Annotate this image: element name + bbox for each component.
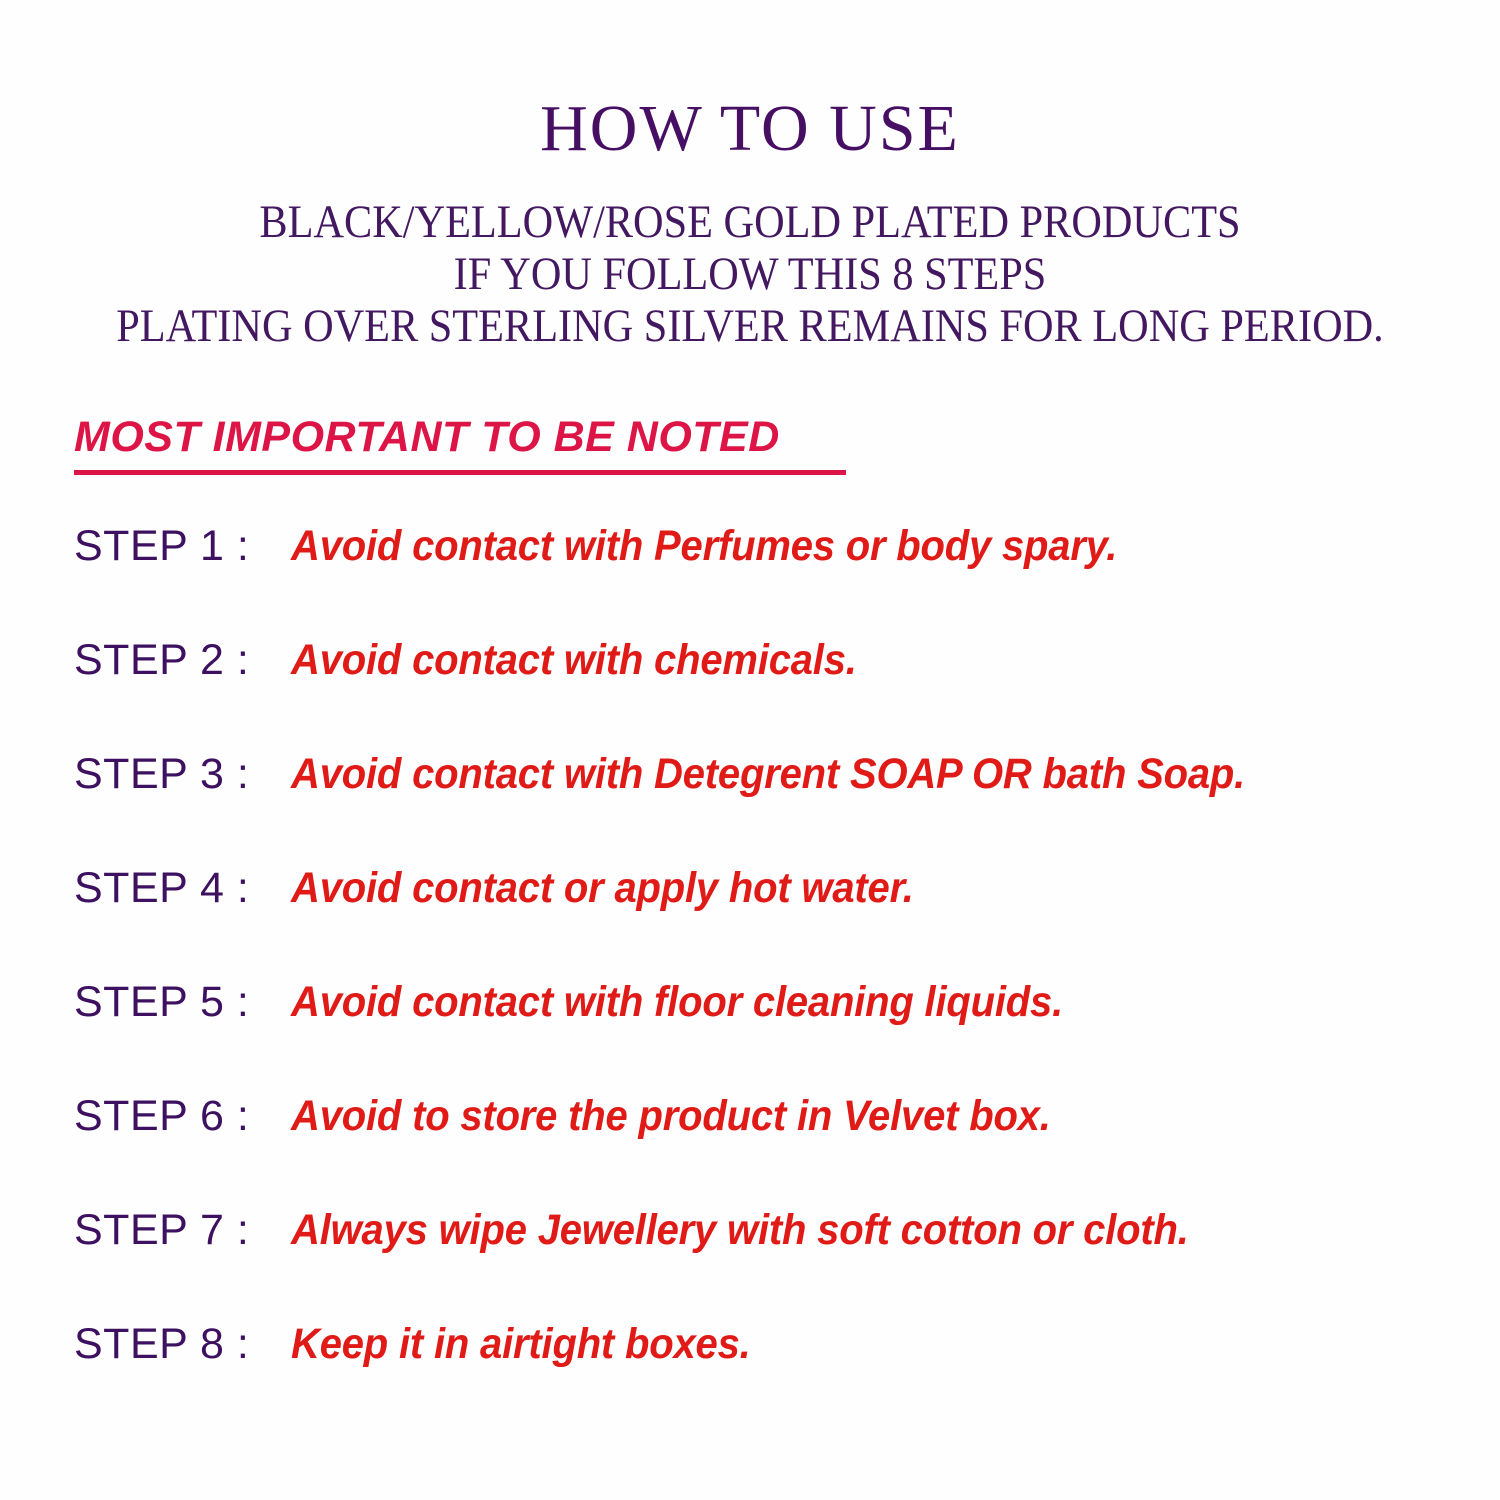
step-label-3: STEP 3 : [74, 750, 291, 798]
list-item: STEP 8 : Keep it in airtight boxes. [74, 1320, 1474, 1434]
step-text-3: Avoid contact with Detegrent SOAP OR bat… [291, 750, 1245, 798]
subtitle-line-3: PLATING OVER STERLING SILVER REMAINS FOR… [75, 300, 1425, 352]
list-item: STEP 7 : Always wipe Jewellery with soft… [74, 1206, 1474, 1320]
step-text-8: Keep it in airtight boxes. [291, 1320, 751, 1368]
step-text-5: Avoid contact with floor cleaning liquid… [291, 978, 1063, 1026]
important-notice-block: MOST IMPORTANT TO BE NOTED [74, 414, 846, 475]
important-notice-heading: MOST IMPORTANT TO BE NOTED [74, 414, 846, 461]
list-item: STEP 1 : Avoid contact with Perfumes or … [74, 522, 1474, 636]
list-item: STEP 2 : Avoid contact with chemicals. [74, 636, 1474, 750]
step-label-2: STEP 2 : [74, 636, 291, 684]
subtitle-line-2: IF YOU FOLLOW THIS 8 STEPS [75, 248, 1425, 300]
instruction-card: HOW TO USE BLACK/YELLOW/ROSE GOLD PLATED… [0, 0, 1500, 1500]
step-text-1: Avoid contact with Perfumes or body spar… [291, 522, 1117, 570]
step-label-1: STEP 1 : [74, 522, 291, 570]
step-text-2: Avoid contact with chemicals. [291, 636, 857, 684]
step-label-6: STEP 6 : [74, 1092, 291, 1140]
step-label-4: STEP 4 : [74, 864, 291, 912]
subtitle-block: BLACK/YELLOW/ROSE GOLD PLATED PRODUCTS I… [0, 196, 1500, 352]
step-label-8: STEP 8 : [74, 1320, 291, 1368]
step-text-7: Always wipe Jewellery with soft cotton o… [291, 1206, 1189, 1254]
important-notice-underline [74, 470, 846, 475]
step-label-7: STEP 7 : [74, 1206, 291, 1254]
list-item: STEP 3 : Avoid contact with Detegrent SO… [74, 750, 1474, 864]
step-text-6: Avoid to store the product in Velvet box… [291, 1092, 1051, 1140]
header-block: HOW TO USE [0, 96, 1500, 162]
page-title: HOW TO USE [0, 96, 1500, 162]
subtitle-line-1: BLACK/YELLOW/ROSE GOLD PLATED PRODUCTS [75, 196, 1425, 248]
step-text-4: Avoid contact or apply hot water. [291, 864, 914, 912]
steps-list: STEP 1 : Avoid contact with Perfumes or … [74, 522, 1474, 1434]
list-item: STEP 6 : Avoid to store the product in V… [74, 1092, 1474, 1206]
list-item: STEP 5 : Avoid contact with floor cleani… [74, 978, 1474, 1092]
step-label-5: STEP 5 : [74, 978, 291, 1026]
list-item: STEP 4 : Avoid contact or apply hot wate… [74, 864, 1474, 978]
